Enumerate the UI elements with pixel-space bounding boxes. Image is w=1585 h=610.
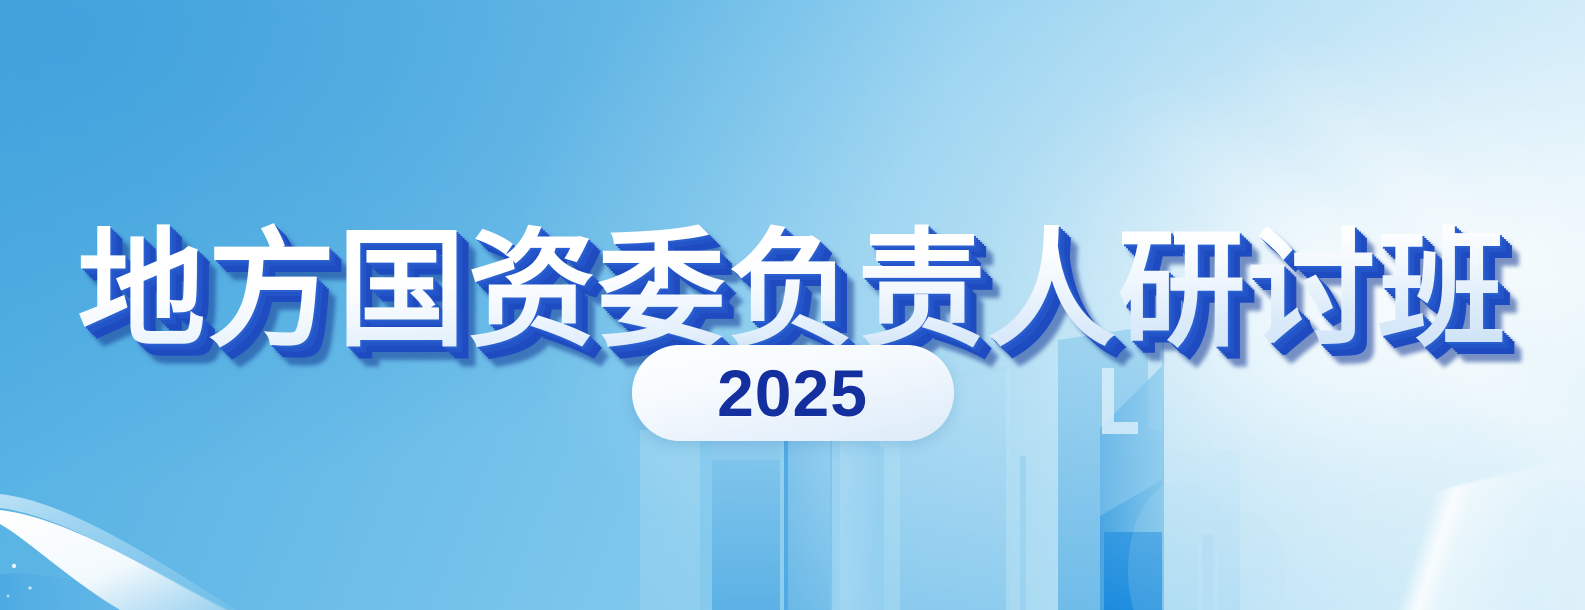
- swoosh-bottom-left: [0, 390, 430, 610]
- event-banner: 地方国资委负责人研讨班 2025: [0, 0, 1585, 610]
- light-ray-upper-right: [1100, 67, 1585, 585]
- glow-right-decoration: [945, 40, 1585, 600]
- city-skyline: [0, 280, 1585, 610]
- light-ray-upper-right-secondary: [1219, 14, 1585, 381]
- year-badge-label: 2025: [717, 360, 868, 426]
- page-title: 地方国资委负责人研讨班: [77, 222, 1507, 360]
- diagonal-edge-bottom-right: [1183, 453, 1585, 610]
- year-badge: 2025: [632, 345, 954, 441]
